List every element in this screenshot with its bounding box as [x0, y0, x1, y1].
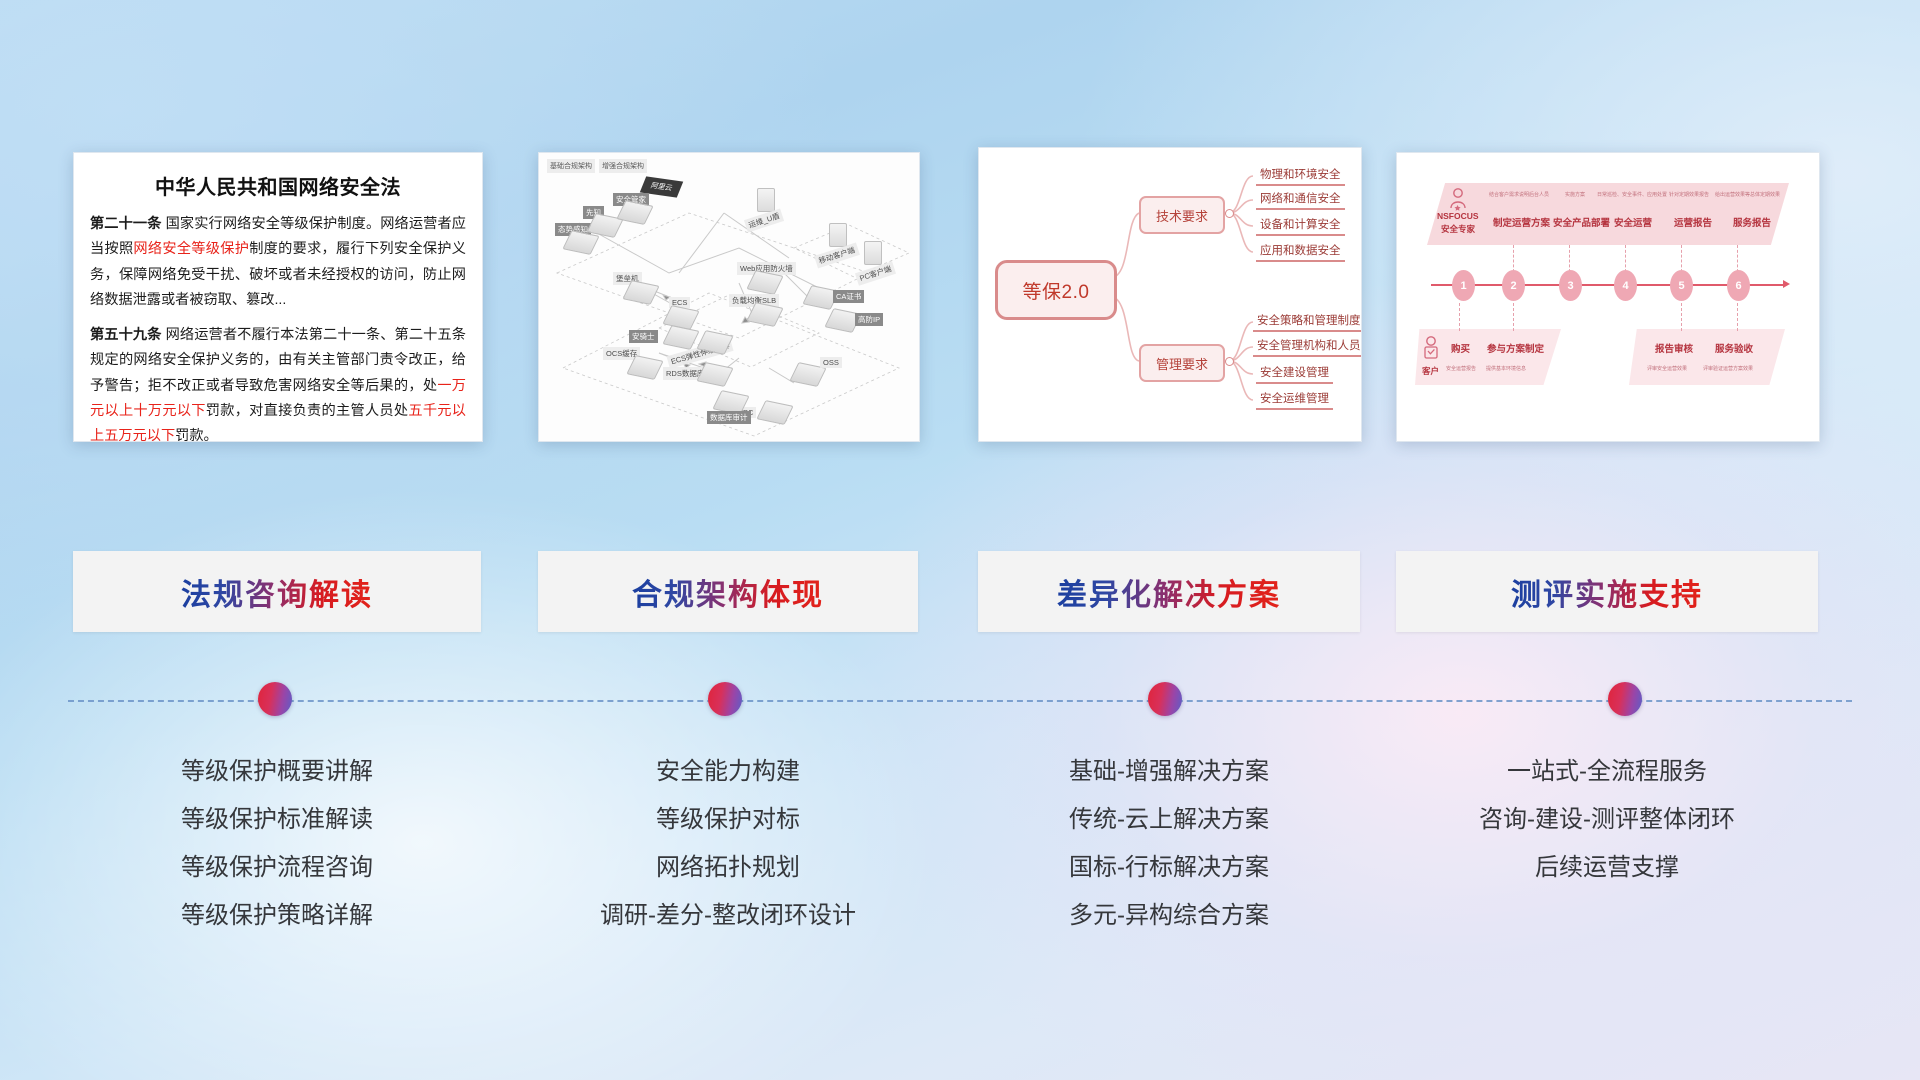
slide-stage: 中华人民共和国网络安全法 第二十一条 国家实行网络安全等级保护制度。网络运营者应… — [0, 0, 1920, 1080]
feature-list-architecture: 安全能力构建 等级保护对标 网络拓扑规划 调研-差分-整改闭环设计 — [538, 748, 918, 940]
list-item: 等级保护概要讲解 — [73, 748, 481, 796]
list-item: 一站式-全流程服务 — [1396, 748, 1818, 796]
list-item: 传统-云上解决方案 — [978, 796, 1360, 844]
list-item: 后续运营支撑 — [1396, 844, 1818, 892]
feature-list-solution: 基础-增强解决方案 传统-云上解决方案 国标-行标解决方案 多元-异构综合方案 — [978, 748, 1360, 940]
list-item: 多元-异构综合方案 — [978, 892, 1360, 940]
list-item: 基础-增强解决方案 — [978, 748, 1360, 796]
banner-differentiated-solution[interactable]: 差异化解决方案 — [978, 551, 1360, 632]
banner-compliance-architecture[interactable]: 合规架构体现 — [538, 551, 918, 632]
list-item: 网络拓扑规划 — [538, 844, 918, 892]
feature-list-regulation: 等级保护概要讲解 等级保护标准解读 等级保护流程咨询 等级保护策略详解 — [73, 748, 481, 940]
list-item: 等级保护策略详解 — [73, 892, 481, 940]
timeline-marker-2[interactable] — [708, 682, 742, 716]
timeline-marker-3[interactable] — [1148, 682, 1182, 716]
list-item: 等级保护流程咨询 — [73, 844, 481, 892]
timeline-marker-1[interactable] — [258, 682, 292, 716]
feature-list-assessment: 一站式-全流程服务 咨询-建设-测评整体闭环 后续运营支撑 — [1396, 748, 1818, 892]
list-item: 等级保护对标 — [538, 796, 918, 844]
list-item: 调研-差分-整改闭环设计 — [538, 892, 918, 940]
list-item: 安全能力构建 — [538, 748, 918, 796]
timeline-marker-4[interactable] — [1608, 682, 1642, 716]
banner-assessment-support[interactable]: 测评实施支持 — [1396, 551, 1818, 632]
banner-label: 测评实施支持 — [1511, 570, 1703, 614]
banner-regulation-consulting[interactable]: 法规咨询解读 — [73, 551, 481, 632]
banner-label: 法规咨询解读 — [181, 570, 373, 614]
list-item: 咨询-建设-测评整体闭环 — [1396, 796, 1818, 844]
list-item: 等级保护标准解读 — [73, 796, 481, 844]
banner-label: 合规架构体现 — [632, 570, 824, 614]
banner-label: 差异化解决方案 — [1057, 570, 1281, 614]
timeline-dashed-line — [68, 700, 1852, 702]
list-item: 国标-行标解决方案 — [978, 844, 1360, 892]
